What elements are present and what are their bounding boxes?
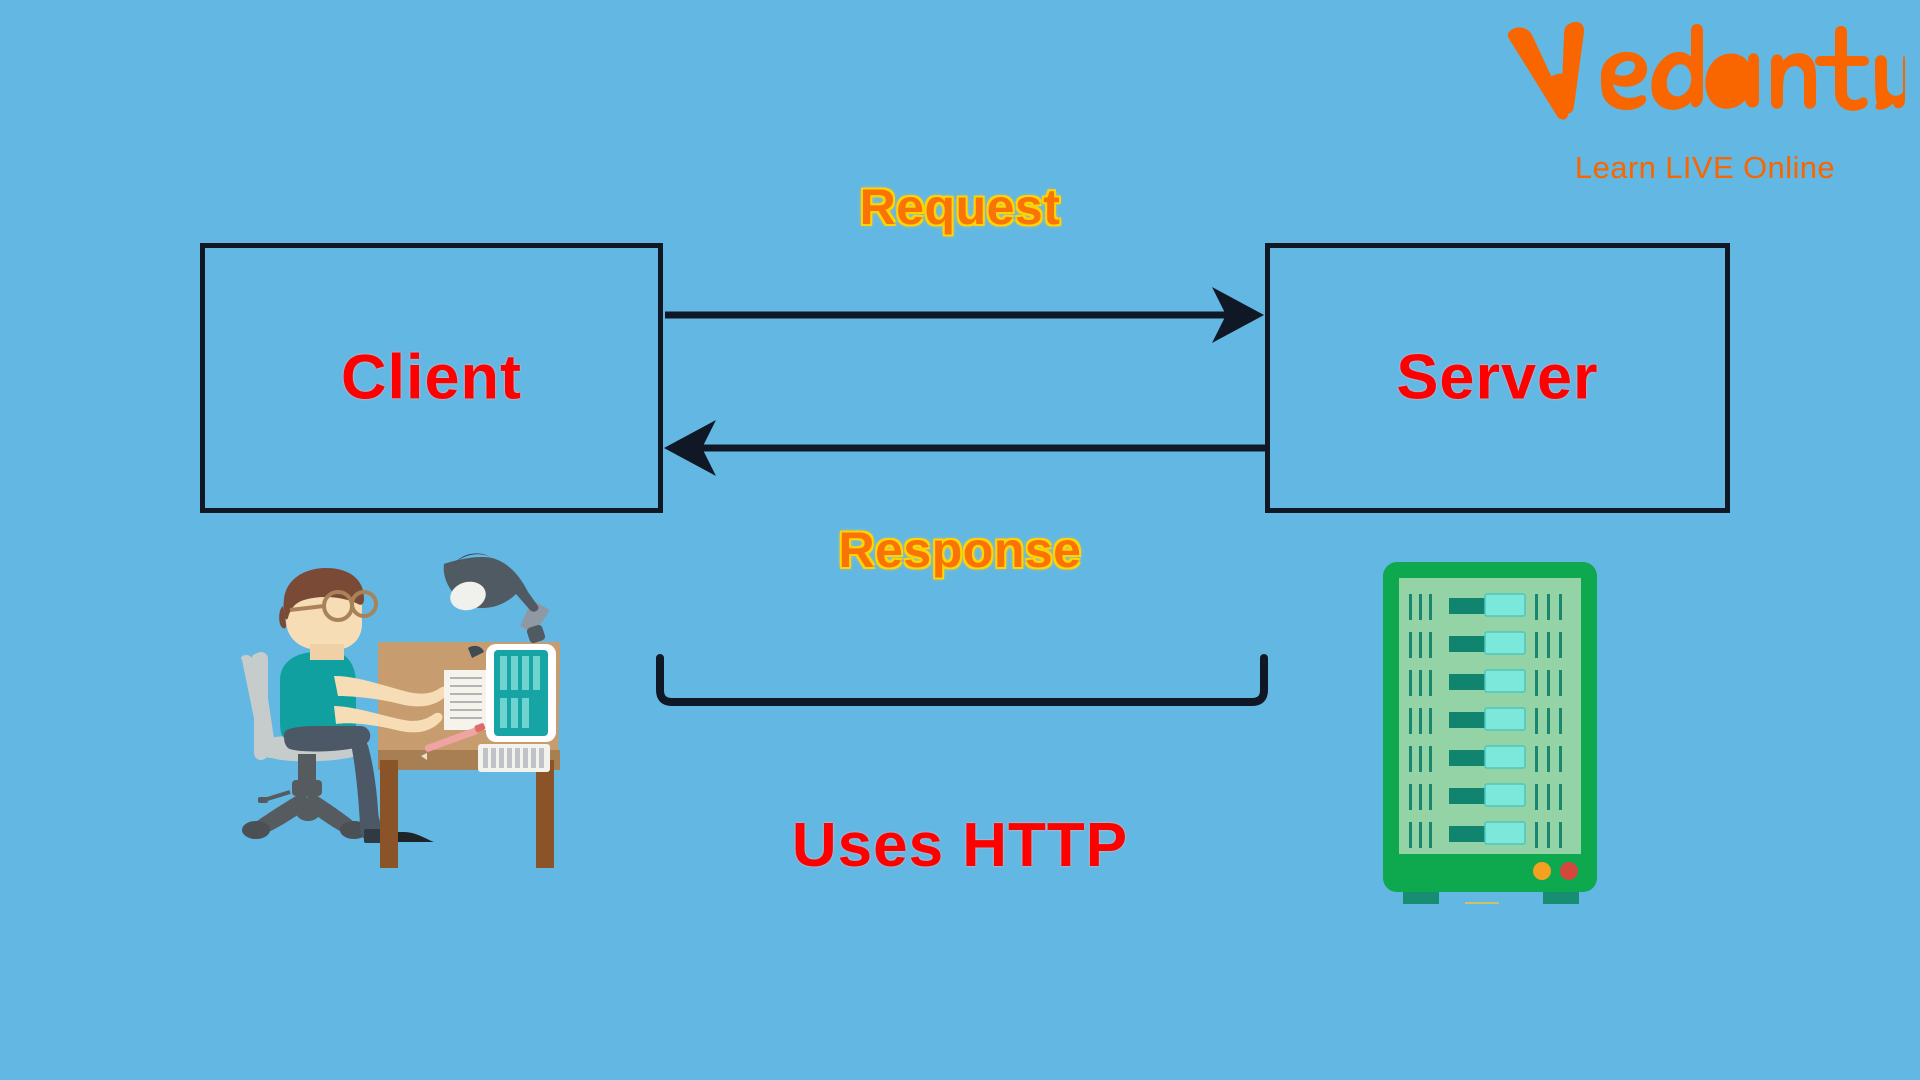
person-at-desk-illustration	[228, 548, 578, 868]
client-node-box: Client	[200, 243, 663, 513]
server-rack-illustration	[1375, 558, 1605, 918]
desk-leg-icon	[380, 760, 398, 868]
server-led-amber-icon	[1533, 862, 1551, 880]
brand-logo: Learn LIVE Online	[1505, 18, 1905, 168]
http-bracket-icon	[660, 658, 1264, 702]
request-edge-label: Request	[760, 182, 1160, 232]
server-foot-icon	[1403, 892, 1439, 904]
response-edge-label: Response	[760, 525, 1160, 575]
request-arrow-icon	[665, 287, 1264, 343]
client-node-label: Client	[205, 347, 658, 410]
brand-tagline: Learn LIVE Online	[1505, 152, 1905, 183]
papers-icon	[444, 670, 488, 730]
response-arrow-icon	[664, 420, 1265, 476]
desk-lamp-icon	[444, 553, 550, 644]
server-led-red-icon	[1560, 862, 1578, 880]
diagram-canvas: Learn LIVE Online Client Server Request …	[0, 0, 1920, 1080]
protocol-note-label: Uses HTTP	[720, 815, 1200, 877]
server-node-box: Server	[1265, 243, 1730, 513]
server-node-label: Server	[1270, 347, 1725, 410]
vedantu-wordmark-icon	[1505, 18, 1905, 128]
